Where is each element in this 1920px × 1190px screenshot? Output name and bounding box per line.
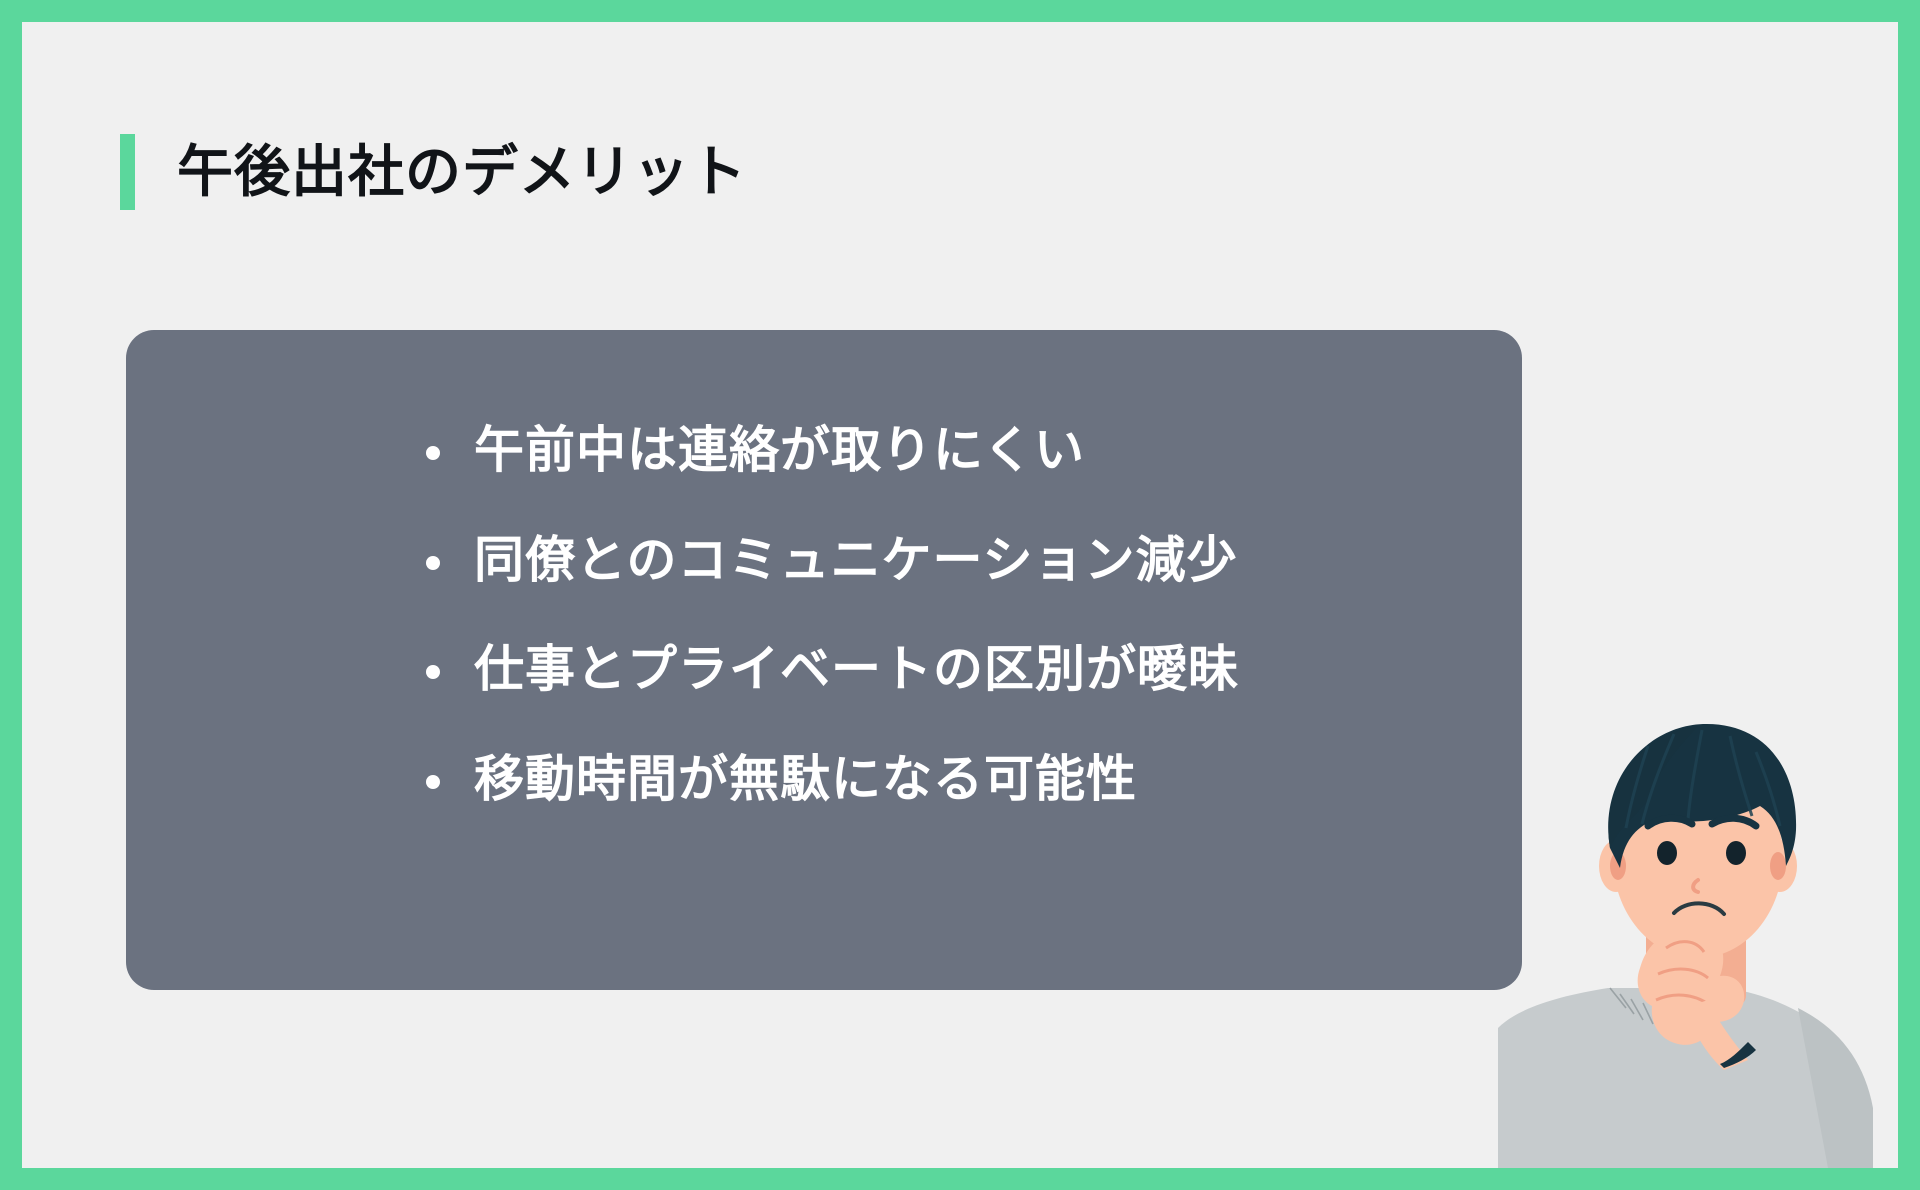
list-item-label: 午前中は連絡が取りにくい xyxy=(474,422,1085,480)
bullet-dot-icon xyxy=(426,556,440,570)
bullet-list: 午前中は連絡が取りにくい 同僚とのコミュニケーション減少 仕事とプライベートの区… xyxy=(426,422,1239,808)
list-item-label: 同僚とのコミュニケーション減少 xyxy=(474,532,1238,590)
list-item-label: 移動時間が無駄になる可能性 xyxy=(474,751,1137,809)
list-item: 仕事とプライベートの区別が曖昧 xyxy=(426,641,1239,699)
list-item-label: 仕事とプライベートの区別が曖昧 xyxy=(474,641,1239,699)
bullet-dot-icon xyxy=(426,665,440,679)
bullet-dot-icon xyxy=(426,446,440,460)
page-title: 午後出社のデメリット xyxy=(177,144,747,200)
title-accent-bar xyxy=(120,134,135,210)
thinking-man-illustration xyxy=(1498,708,1898,1168)
slide-inner-surface: 午後出社のデメリット 午前中は連絡が取りにくい 同僚とのコミュニケーション減少 … xyxy=(22,22,1898,1168)
slide-root: 午後出社のデメリット 午前中は連絡が取りにくい 同僚とのコミュニケーション減少 … xyxy=(0,0,1920,1190)
slide-title-row: 午後出社のデメリット xyxy=(120,134,747,210)
bullet-dot-icon xyxy=(426,775,440,789)
list-item: 午前中は連絡が取りにくい xyxy=(426,422,1239,480)
content-card: 午前中は連絡が取りにくい 同僚とのコミュニケーション減少 仕事とプライベートの区… xyxy=(126,330,1522,990)
list-item: 同僚とのコミュニケーション減少 xyxy=(426,532,1239,590)
list-item: 移動時間が無駄になる可能性 xyxy=(426,751,1239,809)
